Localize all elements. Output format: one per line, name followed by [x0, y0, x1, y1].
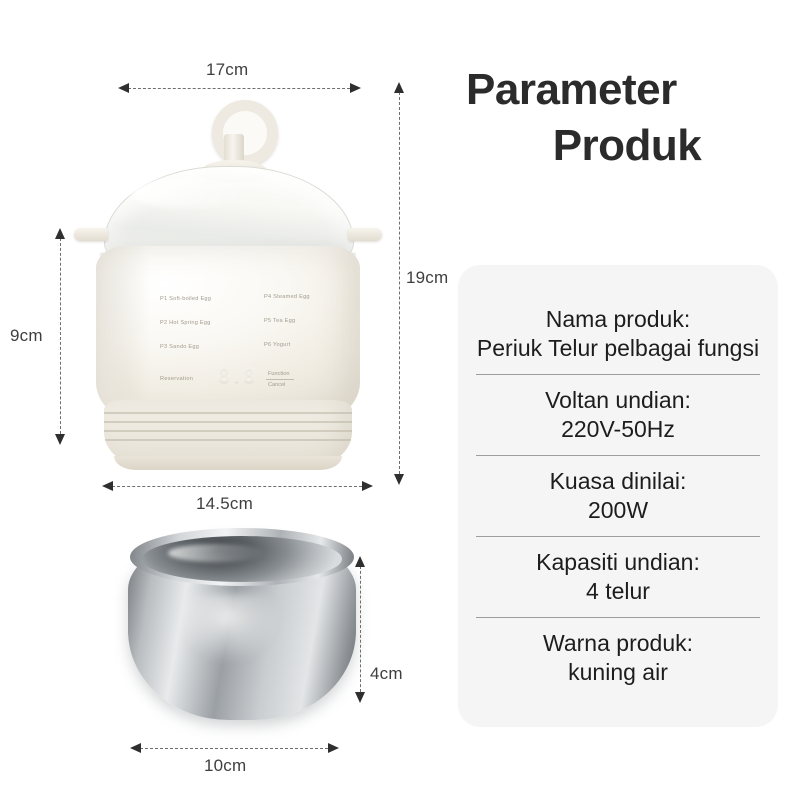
led-timer-display: 8.8 — [215, 365, 259, 387]
dimension-bowl-width-label: 10cm — [204, 756, 246, 776]
dimension-bowl-width-line — [140, 748, 328, 749]
specification-panel: Parameter Produk Nama produk: Periuk Tel… — [450, 0, 800, 800]
base-rib — [104, 430, 352, 432]
page-title-line-2: Produk — [466, 118, 788, 174]
spec-key: Kapasiti undian: — [476, 548, 760, 577]
dimension-lid-width-line — [128, 88, 350, 89]
dimension-total-height-arrow-up — [394, 82, 404, 93]
spec-value: Periuk Telur pelbagai fungsi — [476, 334, 760, 363]
spec-row: Voltan undian: 220V-50Hz — [476, 375, 760, 456]
base-rib — [104, 421, 352, 423]
side-handle-right — [348, 228, 382, 241]
spec-value: 200W — [476, 496, 760, 525]
dimension-lid-width-arrow-right — [350, 83, 361, 93]
dimension-bowl-height-line — [360, 566, 361, 692]
spec-key: Warna produk: — [476, 629, 760, 658]
glass-lid-highlight — [130, 178, 250, 208]
dimension-total-height-label: 19cm — [406, 268, 448, 288]
dimension-body-height-arrow-down — [55, 434, 65, 445]
program-label-p3[interactable]: P3 Sando Egg — [160, 344, 199, 350]
egg-cooker-product-image: P1 Soft-boiled Egg P2 Hot Spring Egg P3 … — [78, 100, 378, 480]
spec-value: kuning air — [476, 658, 760, 687]
dimension-base-width-arrow-right — [362, 481, 373, 491]
cooker-base-foot — [114, 456, 342, 470]
cooker-body-shading — [96, 246, 150, 422]
dimension-base-width-arrow-left — [102, 481, 113, 491]
dimension-body-height-line — [60, 238, 61, 434]
base-rib — [104, 412, 352, 414]
program-label-p4[interactable]: P4 Steamed Egg — [264, 294, 310, 300]
bowl-interior-highlight — [168, 544, 264, 562]
function-cancel-divider — [266, 379, 294, 380]
dimension-bowl-width-arrow-left — [130, 743, 141, 753]
side-handle-left — [74, 228, 108, 241]
page-title: Parameter Produk — [466, 62, 788, 174]
page-title-line-1: Parameter — [466, 62, 788, 118]
dimension-bowl-width-arrow-right — [328, 743, 339, 753]
dimension-base-width-label: 14.5cm — [196, 494, 253, 514]
spec-value: 4 telur — [476, 577, 760, 606]
dimension-bowl-height-arrow-down — [355, 692, 365, 703]
dimension-body-height-arrow-up — [55, 228, 65, 239]
spec-key: Voltan undian: — [476, 386, 760, 415]
function-button-label[interactable]: Function — [268, 370, 289, 378]
program-label-p5[interactable]: P5 Tea Egg — [264, 318, 295, 324]
spec-row: Nama produk: Periuk Telur pelbagai fungs… — [476, 294, 760, 375]
program-label-p1[interactable]: P1 Soft-boiled Egg — [160, 296, 211, 302]
dimension-total-height-arrow-down — [394, 474, 404, 485]
product-illustration-panel: 17cm 19cm 9cm 14.5cm — [0, 0, 450, 800]
bowl-body-highlight — [180, 594, 300, 686]
program-label-p2[interactable]: P2 Hot Spring Egg — [160, 320, 211, 326]
dimension-total-height-line — [399, 92, 400, 474]
lid-knob-ring — [212, 100, 278, 166]
glass-lid-dome — [104, 166, 354, 258]
spec-key: Nama produk: — [476, 305, 760, 334]
dimension-bowl-height-arrow-up — [355, 556, 365, 567]
stainless-steel-inner-bowl — [128, 528, 356, 724]
dimension-bowl-height-label: 4cm — [370, 664, 403, 684]
spec-value: 220V-50Hz — [476, 415, 760, 444]
dimension-base-width-line — [112, 486, 362, 487]
reservation-button-label[interactable]: Reservation — [160, 376, 193, 382]
dimension-lid-width-label: 17cm — [206, 60, 248, 80]
spec-row: Warna produk: kuning air — [476, 618, 760, 698]
spec-row: Kapasiti undian: 4 telur — [476, 537, 760, 618]
cancel-button-label[interactable]: Cancel — [268, 381, 285, 389]
program-label-p6[interactable]: P6 Yogurt — [264, 342, 291, 348]
dimension-body-height-label: 9cm — [10, 326, 43, 346]
spec-key: Kuasa dinilai: — [476, 467, 760, 496]
dimension-lid-width-arrow-left — [118, 83, 129, 93]
base-rib — [104, 439, 352, 441]
specification-table: Nama produk: Periuk Telur pelbagai fungs… — [458, 265, 778, 727]
spec-row: Kuasa dinilai: 200W — [476, 456, 760, 537]
